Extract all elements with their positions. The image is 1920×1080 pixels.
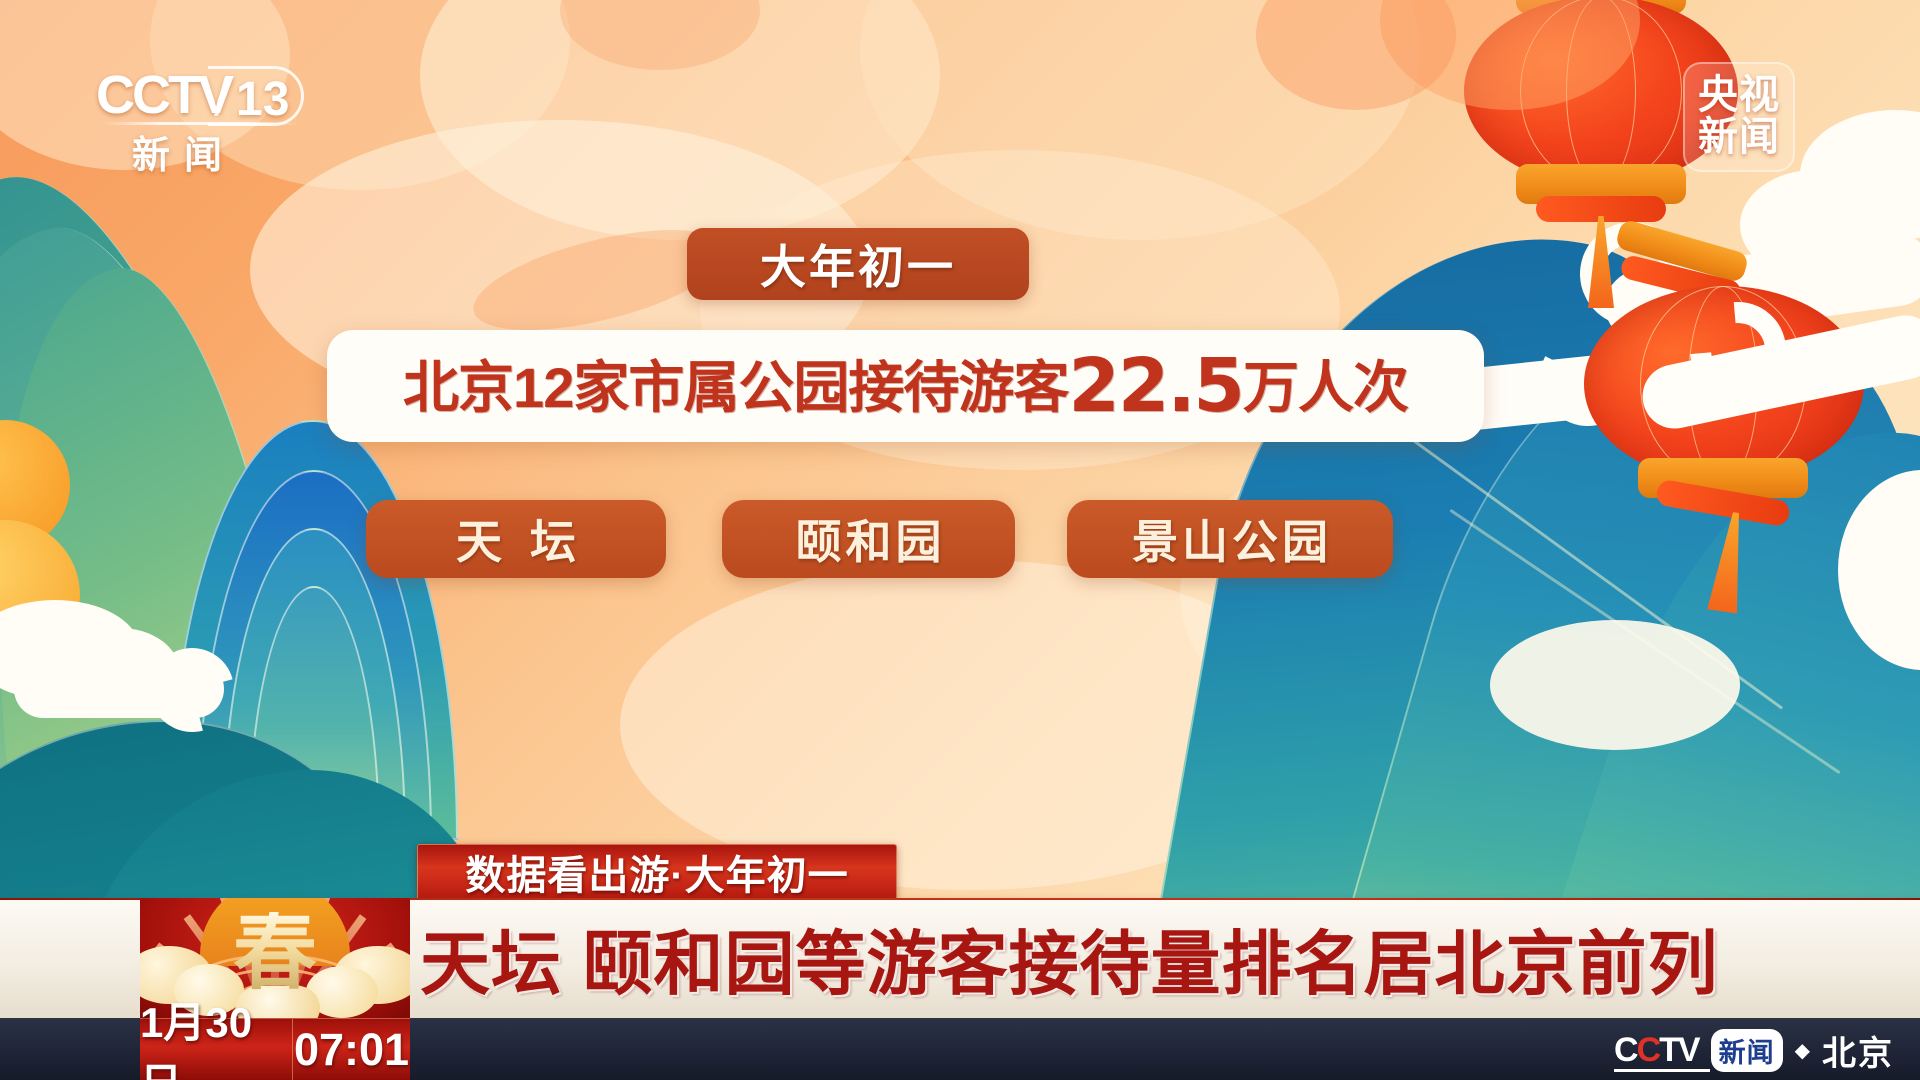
ribbon-band-teal — [0, 252, 320, 888]
cctv13-channel-logo: CCTV / 13 新闻 — [96, 68, 306, 168]
gold-gourd-shape — [0, 520, 80, 670]
cctv-letter-c1: C — [1614, 1031, 1637, 1069]
city-label: 北京 — [1822, 1026, 1894, 1075]
cloud-blob — [0, 430, 310, 710]
cctv-letters-tv: TV — [1659, 1031, 1698, 1069]
park-badge-label: 颐和园 — [792, 506, 946, 572]
bottom-right-ident: CCTV 新闻 ◆ 北京 — [1614, 1028, 1894, 1072]
lower-third-headline: 天坛 颐和园等游客接待量排名居北京前列 — [420, 912, 1718, 1004]
lantern-tassel — [1707, 510, 1751, 613]
headline-card: 北京12家市属公园接待游客22.5万人次 — [327, 330, 1484, 442]
headline-text: 北京12家市属公园接待游客22.5万人次 — [403, 343, 1408, 429]
date-badge: 大年初一 — [687, 228, 1029, 300]
mountain-arch-blue — [248, 586, 380, 840]
headline-suffix: 万人次 — [1243, 356, 1408, 419]
ribbon-band-teal — [0, 143, 302, 856]
lantern-rib — [1688, 286, 1758, 482]
cloud-blob — [420, 0, 940, 240]
cloud-blob — [860, 0, 1420, 240]
date-segment: 1月30日 — [140, 1018, 292, 1080]
spring-calligraphy: 春 — [233, 912, 317, 996]
ribbon-band-teal — [0, 203, 301, 876]
auspicious-cloud-white — [14, 660, 224, 718]
channel-name: 新闻 — [132, 124, 236, 179]
channel-number: 13 — [236, 72, 289, 127]
watermark-line-1: 央视 — [1698, 75, 1780, 117]
park-badge-jingshan: 景山公园 — [1067, 500, 1393, 578]
lower-third-kicker-label: 数据看出游·大年初一 — [465, 843, 848, 901]
auspicious-cloud-white — [1490, 620, 1740, 750]
cloud-blob — [1256, 0, 1456, 110]
mountain-arch-blue — [168, 420, 458, 840]
auspicious-cloud-white — [60, 628, 180, 718]
date-badge-label: 大年初一 — [760, 231, 956, 297]
datetime-display: 1月30日 07:01 — [140, 1018, 410, 1080]
logo-slash: / — [214, 68, 228, 128]
park-badge-label: 景山公园 — [1128, 506, 1332, 572]
cloud-blob — [1180, 430, 1700, 760]
lantern-rib — [1566, 0, 1636, 186]
watermark-line-2: 新闻 — [1698, 117, 1780, 159]
park-badge-yiheyuan: 颐和园 — [722, 500, 1015, 578]
ident-underline — [1614, 1069, 1710, 1072]
diamond-icon: ◆ — [1795, 1038, 1810, 1063]
park-badge-tiantan: 天坛 — [366, 500, 666, 578]
broadcast-screen: CCTV / 13 新闻 央视 新闻 大年初一 北京12家市属公园接待游客22.… — [0, 0, 1920, 1080]
time-segment: 07:01 — [292, 1018, 410, 1080]
cctv-mini-wordmark: CCTV — [1614, 1033, 1699, 1067]
time-label: 07:01 — [294, 1024, 409, 1076]
auspicious-cloud-white — [0, 600, 140, 700]
lower-third-kicker: 数据看出游·大年初一 — [417, 844, 897, 900]
headline-number: 22.5 — [1068, 343, 1243, 429]
headline-prefix: 北京12家市属公园接待游客 — [403, 356, 1068, 419]
cctv-news-watermark: 央视 新闻 — [1683, 62, 1795, 172]
decor-line — [1449, 509, 1840, 774]
cloud-blob — [560, 0, 760, 70]
auspicious-cloud-white — [1838, 470, 1920, 670]
lower-third-headline-label: 天坛 颐和园等游客接待量排名居北京前列 — [420, 908, 1718, 1009]
gold-gourd-shape — [0, 420, 70, 550]
auspicious-cloud-white — [1800, 110, 1920, 240]
lantern-tassel — [1588, 216, 1614, 308]
cctv-letter-c2: C — [1637, 1031, 1660, 1069]
auspicious-cloud-white — [1740, 170, 1890, 280]
date-label: 1月30日 — [140, 989, 292, 1080]
park-badge-label: 天坛 — [428, 506, 604, 572]
cloud-blob — [620, 560, 1320, 890]
auspicious-cloud-swirl — [135, 633, 250, 748]
news-badge: 新闻 — [1711, 1029, 1783, 1072]
